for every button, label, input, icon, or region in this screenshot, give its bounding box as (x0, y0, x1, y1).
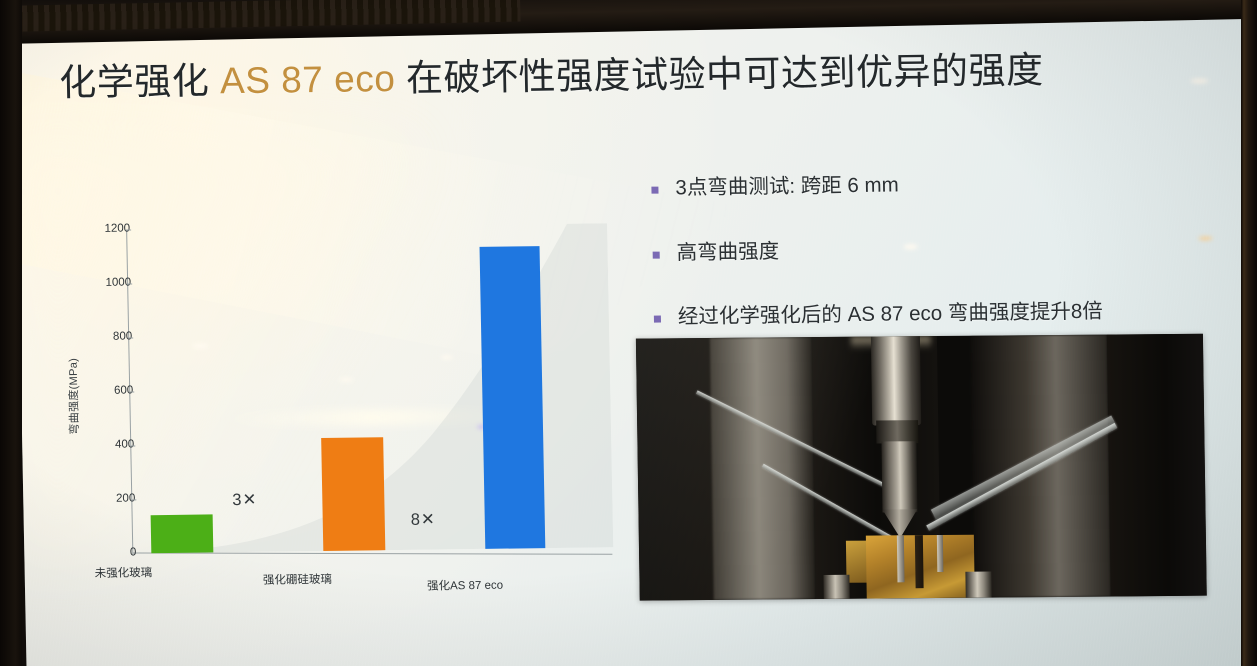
bending-strength-bar-chart: 弯曲强度(MPa) 020040060080010001200 3✕8✕ 未强化… (28, 213, 636, 621)
chart-annotation-group: 3✕8✕ (127, 223, 607, 229)
brass-fixture-notch (914, 535, 923, 587)
slide-title-suffix: 在破坏性强度试验中可达到优异的强度 (395, 50, 1044, 99)
chart-bar (480, 246, 546, 549)
list-item: 高弯曲强度 (652, 233, 1212, 267)
bullet-text: 高弯曲强度 (676, 239, 779, 267)
chart-x-category-label: 强化AS 87 eco (427, 577, 503, 594)
chart-y-axis-label: 弯曲强度(MPa) (64, 316, 83, 476)
chart-bar (151, 515, 214, 554)
slide-title-prefix: 化学强化 (59, 60, 221, 103)
list-item: 经过化学强化后的 AS 87 eco 弯曲强度提升8倍 (654, 298, 1214, 332)
chart-multiplier-annotation: 3✕ (232, 490, 257, 510)
photo-backdrop-left (636, 338, 719, 601)
steel-cylinder-left (824, 575, 850, 599)
photo-backdrop-far-right (1106, 334, 1206, 597)
indenter-shaft (871, 336, 921, 425)
chart-bar-group (127, 223, 607, 229)
chart-x-category-label: 未强化玻璃 (95, 564, 153, 581)
projected-slide: 化学强化 AS 87 eco 在破坏性强度试验中可达到优异的强度 3点弯曲测试:… (14, 0, 1257, 666)
slide-canvas: 化学强化 AS 87 eco 在破坏性强度试验中可达到优异的强度 3点弯曲测试:… (14, 0, 1257, 666)
chart-x-tick-labels: 未强化玻璃强化硼硅玻璃强化AS 87 eco (28, 213, 628, 221)
slide-title: 化学强化 AS 87 eco 在破坏性强度试验中可达到优异的强度 (59, 46, 1220, 105)
list-item: 3点弯曲测试: 跨距 6 mm (651, 168, 1211, 202)
steel-cylinder-right (965, 571, 991, 597)
chart-x-axis (132, 552, 612, 554)
chart-bar (321, 437, 385, 551)
bending-test-photo (636, 334, 1207, 601)
bullet-square-icon (651, 187, 658, 194)
slide-title-product: AS 87 eco (220, 58, 396, 101)
chart-x-category-label: 强化硼硅玻璃 (263, 571, 332, 588)
bullet-text: 3点弯曲测试: 跨距 6 mm (675, 172, 899, 202)
photo-backdrop-lit-column (710, 337, 816, 600)
support-pin-left (897, 535, 904, 582)
bullet-square-icon (653, 251, 660, 258)
room-photograph: 化学强化 AS 87 eco 在破坏性强度试验中可达到优异的强度 3点弯曲测试:… (0, 0, 1257, 666)
bullet-square-icon (654, 316, 661, 323)
bullet-text: 经过化学强化后的 AS 87 eco 弯曲强度提升8倍 (678, 299, 1103, 331)
indenter-lower-shaft (881, 441, 917, 512)
chart-multiplier-annotation: 8✕ (411, 510, 436, 530)
chart-plot-area: 3✕8✕ (127, 223, 613, 553)
chart-y-tick-group: 020040060080010001200 (28, 213, 628, 221)
support-pin-right (937, 535, 944, 572)
